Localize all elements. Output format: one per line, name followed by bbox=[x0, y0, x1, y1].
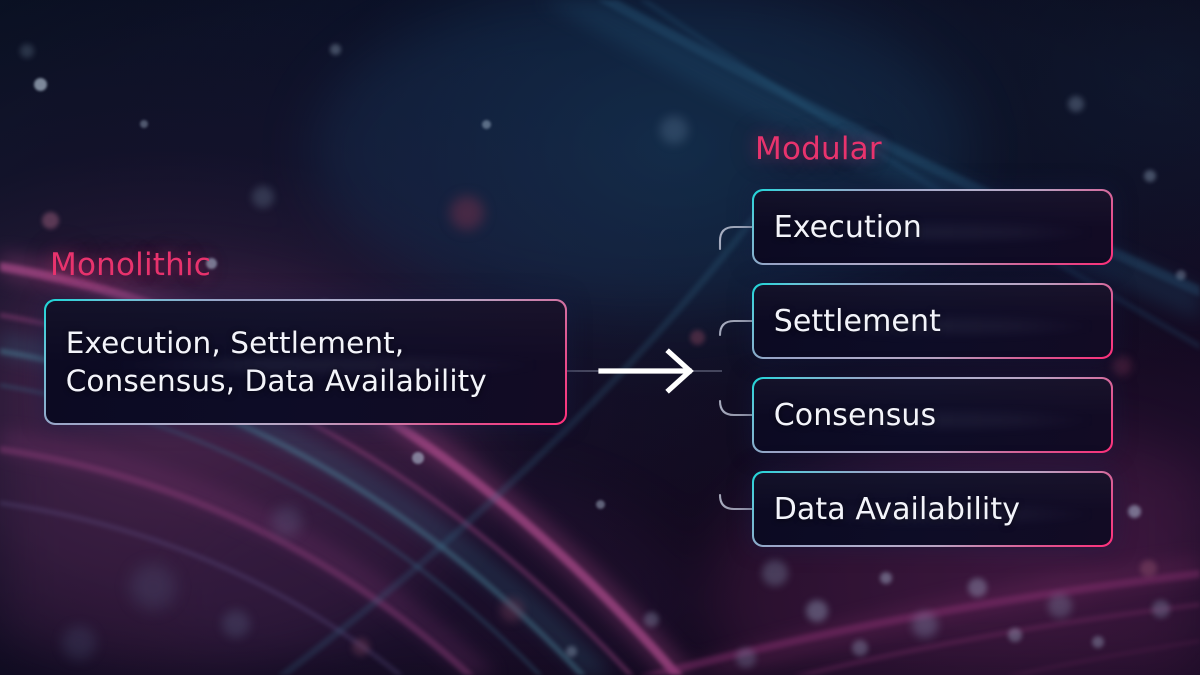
modular-card-consensus-inner: Consensus bbox=[754, 379, 1112, 452]
modular-card-data-availability-label: Data Availability bbox=[774, 490, 1020, 529]
modular-card-execution-label: Execution bbox=[774, 208, 922, 247]
modular-card-data-availability-inner: Data Availability bbox=[754, 473, 1112, 546]
modular-card-data-availability[interactable]: Data Availability bbox=[752, 471, 1113, 547]
monolithic-card-text: Execution, Settlement, Consensus, Data A… bbox=[66, 324, 487, 401]
monolithic-card[interactable]: Execution, Settlement, Consensus, Data A… bbox=[44, 299, 567, 425]
monolithic-card-inner: Execution, Settlement, Consensus, Data A… bbox=[46, 301, 566, 424]
diagram-canvas: Monolithic Execution, Settlement, Consen… bbox=[0, 0, 1200, 675]
modular-card-execution-inner: Execution bbox=[754, 191, 1112, 264]
modular-card-settlement-label: Settlement bbox=[774, 302, 941, 341]
modular-section-label: Modular bbox=[755, 131, 882, 167]
monolithic-section-label: Monolithic bbox=[50, 247, 211, 283]
modular-card-settlement-inner: Settlement bbox=[754, 285, 1112, 358]
modular-card-settlement[interactable]: Settlement bbox=[752, 283, 1113, 359]
modular-card-consensus-label: Consensus bbox=[774, 396, 937, 435]
modular-card-execution[interactable]: Execution bbox=[752, 189, 1113, 265]
modular-card-consensus[interactable]: Consensus bbox=[752, 377, 1113, 453]
